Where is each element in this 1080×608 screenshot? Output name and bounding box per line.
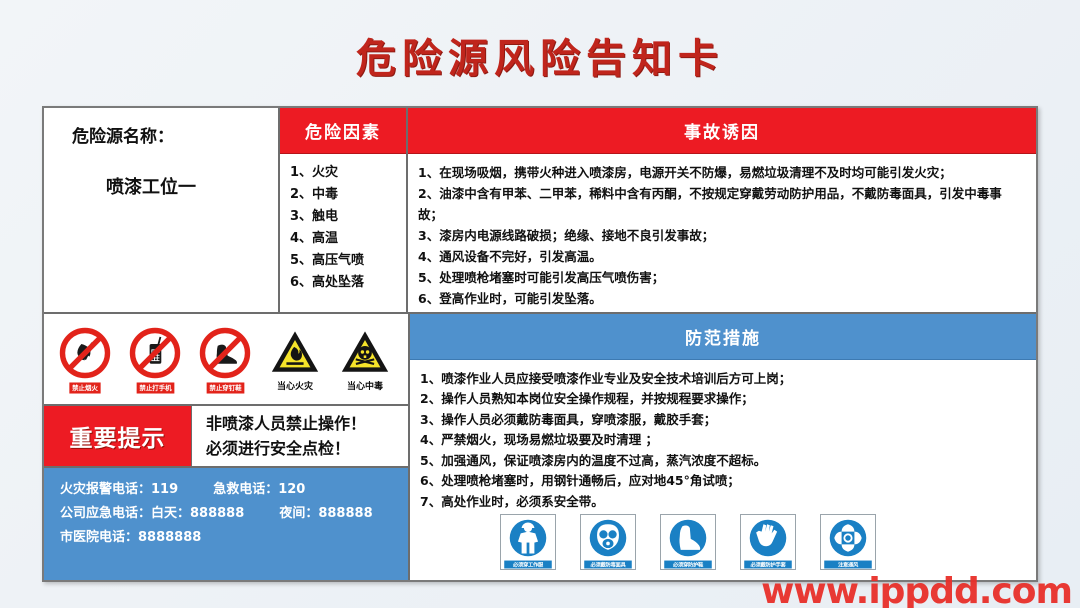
toxic-warning-icon bbox=[339, 328, 391, 376]
warning-sign-fire-hazard: 当心火灾 bbox=[260, 328, 330, 392]
list-item: 1、火灾 bbox=[290, 162, 406, 184]
company-emergency-day-phone: 公司应急电话：白天：888888 bbox=[60, 506, 244, 521]
site-watermark: www.ippdd.com bbox=[761, 571, 1072, 608]
list-item: 4、严禁烟火，现场易燃垃圾要及时清理 ； bbox=[420, 430, 1026, 451]
list-item: 1、喷漆作业人员应接受喷漆作业专业及安全技术培训后方可上岗； bbox=[420, 369, 1026, 390]
notice-card: 危险源名称： 喷漆工位一 危险因素 1、火灾 2、中毒 3、触电 4、高温 5、… bbox=[42, 106, 1038, 582]
must-wear-protective-gloves-icon bbox=[746, 517, 790, 559]
safety-signs-strip: 禁止烟火 bbox=[44, 314, 408, 406]
ppe-caption: 必须穿工作服 bbox=[504, 561, 552, 569]
list-item: 5、加强通风，保证喷漆房内的温度不过高，蒸汽浓度不超标。 bbox=[420, 451, 1026, 472]
prohibition-sign-no-open-flame: 禁止烟火 bbox=[50, 326, 120, 394]
ppe-caption: 注意通风 bbox=[824, 561, 872, 569]
no-mobile-phone-icon bbox=[128, 326, 182, 380]
hazard-factors-header: 危险因素 bbox=[280, 108, 406, 154]
page-title: 危险源风险告知卡 bbox=[0, 26, 1080, 84]
list-item: 2、中毒 bbox=[290, 184, 406, 206]
ppe-sign-gas-mask: 必须戴防毒面具 bbox=[580, 514, 636, 570]
prevention-list: 1、喷漆作业人员应接受喷漆作业专业及安全技术培训后方可上岗； 2、操作人员熟知本… bbox=[410, 360, 1036, 513]
sign-caption: 当心火灾 bbox=[277, 379, 313, 392]
sign-caption: 禁止打手机 bbox=[136, 382, 174, 393]
sign-caption: 当心中毒 bbox=[347, 379, 383, 392]
list-item: 6、登高作业时，可能引发坠落。 bbox=[418, 288, 1024, 309]
list-item: 2、油漆中含有甲苯、二甲苯，稀料中含有丙酮，不按规定穿戴劳动防护用品，不戴防毒面… bbox=[418, 183, 1024, 225]
no-nailed-shoes-icon bbox=[198, 326, 252, 380]
accident-causes-list: 1、在现场吸烟，携带火种进入喷漆房，电源开关不防爆，易燃垃圾清理不及时均可能引发… bbox=[408, 154, 1036, 309]
ppe-caption: 必须戴防毒面具 bbox=[584, 561, 632, 569]
accident-causes-header: 事故诱因 bbox=[408, 108, 1036, 154]
prevention-header: 防范措施 bbox=[410, 314, 1036, 360]
must-wear-gas-mask-icon bbox=[586, 517, 630, 559]
safety-hazard-notice-card: 危险源风险告知卡 危险源名称： 喷漆工位一 危险因素 1、火灾 2、中毒 3、触… bbox=[0, 0, 1080, 608]
ppe-sign-work-clothes: 必须穿工作服 bbox=[500, 514, 556, 570]
fire-hazard-warning-icon bbox=[269, 328, 321, 376]
hazard-factors-list: 1、火灾 2、中毒 3、触电 4、高温 5、高压气喷 6、高处坠落 bbox=[280, 154, 406, 294]
must-wear-work-clothes-icon bbox=[506, 517, 550, 559]
list-item: 6、处理喷枪堵塞时，用钢针通畅后，应对地45°角试喷； bbox=[420, 471, 1026, 492]
important-tips-row: 重要提示 非喷漆人员禁止操作！ 必须进行安全点检！ bbox=[44, 406, 408, 468]
list-item: 3、操作人员必须戴防毒面具，穿喷漆服，戴胶手套； bbox=[420, 410, 1026, 431]
top-section: 危险源名称： 喷漆工位一 危险因素 1、火灾 2、中毒 3、触电 4、高温 5、… bbox=[44, 108, 1036, 314]
ppe-sign-protective-gloves: 必须戴防护手套 bbox=[740, 514, 796, 570]
emergency-contacts-panel: 火灾报警电话：119 急救电话：120 公司应急电话：白天：888888 夜间：… bbox=[44, 468, 408, 581]
sign-caption: 禁止烟火 bbox=[69, 382, 100, 393]
city-hospital-phone: 市医院电话：8888888 bbox=[60, 530, 201, 545]
prevention-column: 防范措施 1、喷漆作业人员应接受喷漆作业专业及安全技术培训后方可上岗； 2、操作… bbox=[410, 314, 1036, 581]
fire-alarm-phone: 火灾报警电话：119 bbox=[60, 482, 178, 497]
no-open-flame-icon bbox=[58, 326, 112, 380]
contacts-line-2: 公司应急电话：白天：888888 夜间：888888 bbox=[60, 502, 408, 526]
prohibition-sign-no-nailed-shoes: 禁止穿钉鞋 bbox=[190, 326, 260, 394]
list-item: 7、高处作业时，必须系安全带。 bbox=[420, 492, 1026, 513]
ppe-caption: 必须戴防护手套 bbox=[744, 561, 792, 569]
ppe-caption: 必须穿防护鞋 bbox=[664, 561, 712, 569]
bottom-section: 禁止烟火 bbox=[44, 314, 1036, 581]
list-item: 6、高处坠落 bbox=[290, 272, 406, 294]
contacts-line-3: 市医院电话：8888888 bbox=[60, 526, 408, 550]
important-tips-line1: 非喷漆人员禁止操作！ bbox=[206, 411, 408, 436]
list-item: 5、处理喷枪堵塞时可能引发高压气喷伤害； bbox=[418, 267, 1024, 288]
list-item: 3、漆房内电源线路破损；绝缘、接地不良引发事故； bbox=[418, 225, 1024, 246]
hazard-source-column: 危险源名称： 喷漆工位一 bbox=[44, 108, 280, 312]
important-tips-line2: 必须进行安全点检！ bbox=[206, 436, 408, 461]
list-item: 1、在现场吸烟，携带火种进入喷漆房，电源开关不防爆，易燃垃圾清理不及时均可能引发… bbox=[418, 162, 1024, 183]
signs-and-tips-column: 禁止烟火 bbox=[44, 314, 410, 581]
warning-sign-toxic: 当心中毒 bbox=[330, 328, 400, 392]
important-tips-label: 重要提示 bbox=[44, 406, 192, 466]
hazard-source-value: 喷漆工位一 bbox=[54, 173, 196, 199]
sign-caption: 禁止穿钉鞋 bbox=[206, 382, 244, 393]
hazard-factors-column: 危险因素 1、火灾 2、中毒 3、触电 4、高温 5、高压气喷 6、高处坠落 bbox=[280, 108, 408, 312]
important-tips-text: 非喷漆人员禁止操作！ 必须进行安全点检！ bbox=[192, 406, 408, 466]
ppe-sign-safety-shoes: 必须穿防护鞋 bbox=[660, 514, 716, 570]
ambulance-phone: 急救电话：120 bbox=[213, 482, 305, 497]
list-item: 4、通风设备不完好，引发高温。 bbox=[418, 246, 1024, 267]
ventilation-notice-icon bbox=[826, 517, 870, 559]
hazard-source-label: 危险源名称： bbox=[54, 122, 174, 147]
list-item: 2、操作人员熟知本岗位安全操作规程，并按规程要求操作； bbox=[420, 389, 1026, 410]
list-item: 5、高压气喷 bbox=[290, 250, 406, 272]
contacts-line-1: 火灾报警电话：119 急救电话：120 bbox=[60, 478, 408, 502]
must-wear-safety-shoes-icon bbox=[666, 517, 710, 559]
ppe-sign-ventilation: 注意通风 bbox=[820, 514, 876, 570]
company-emergency-night-phone: 夜间：888888 bbox=[279, 506, 372, 521]
list-item: 3、触电 bbox=[290, 206, 406, 228]
list-item: 4、高温 bbox=[290, 228, 406, 250]
prohibition-sign-no-mobile-phone: 禁止打手机 bbox=[120, 326, 190, 394]
accident-causes-column: 事故诱因 1、在现场吸烟，携带火种进入喷漆房，电源开关不防爆，易燃垃圾清理不及时… bbox=[408, 108, 1036, 312]
